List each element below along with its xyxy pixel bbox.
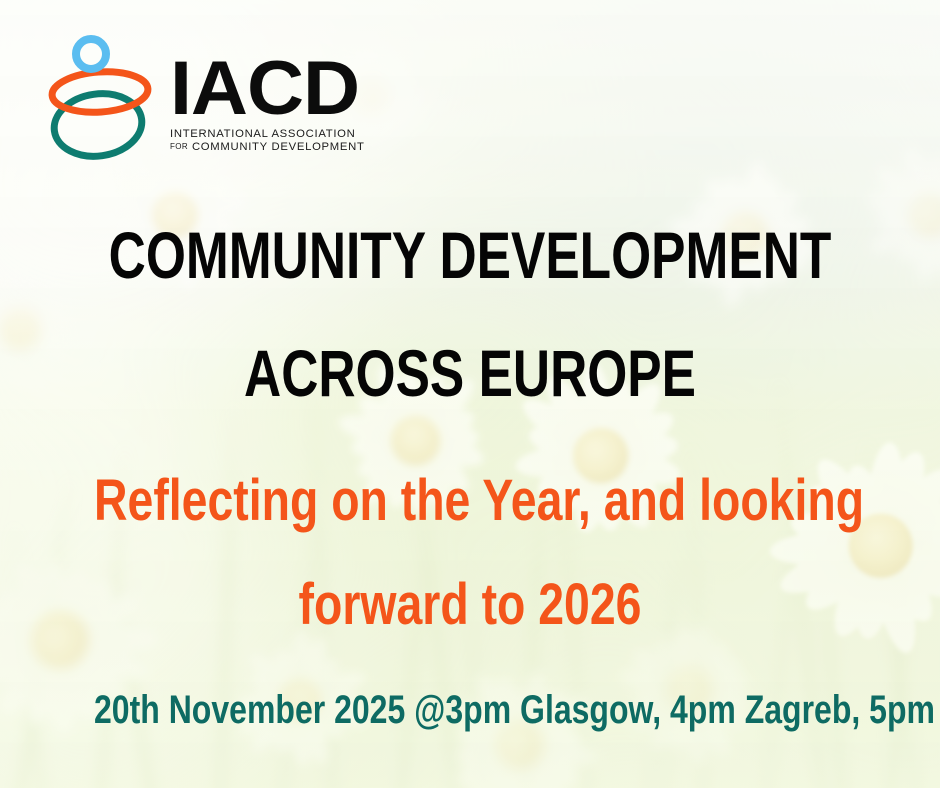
- headline-line-1: COMMUNITY DEVELOPMENT: [103, 222, 836, 288]
- subheadline-line-2: forward to 2026: [94, 576, 846, 634]
- headline-line-2: ACROSS EUROPE: [103, 340, 836, 406]
- event-dateline: 20th November 2025 @3pm Glasgow, 4pm Zag…: [94, 690, 846, 730]
- event-poster: IACD INTERNATIONAL ASSOCIATION FOR COMMU…: [0, 0, 940, 788]
- poster-text-content: COMMUNITY DEVELOPMENT ACROSS EUROPE Refl…: [0, 0, 940, 788]
- subheadline-line-1: Reflecting on the Year, and looking: [94, 472, 846, 530]
